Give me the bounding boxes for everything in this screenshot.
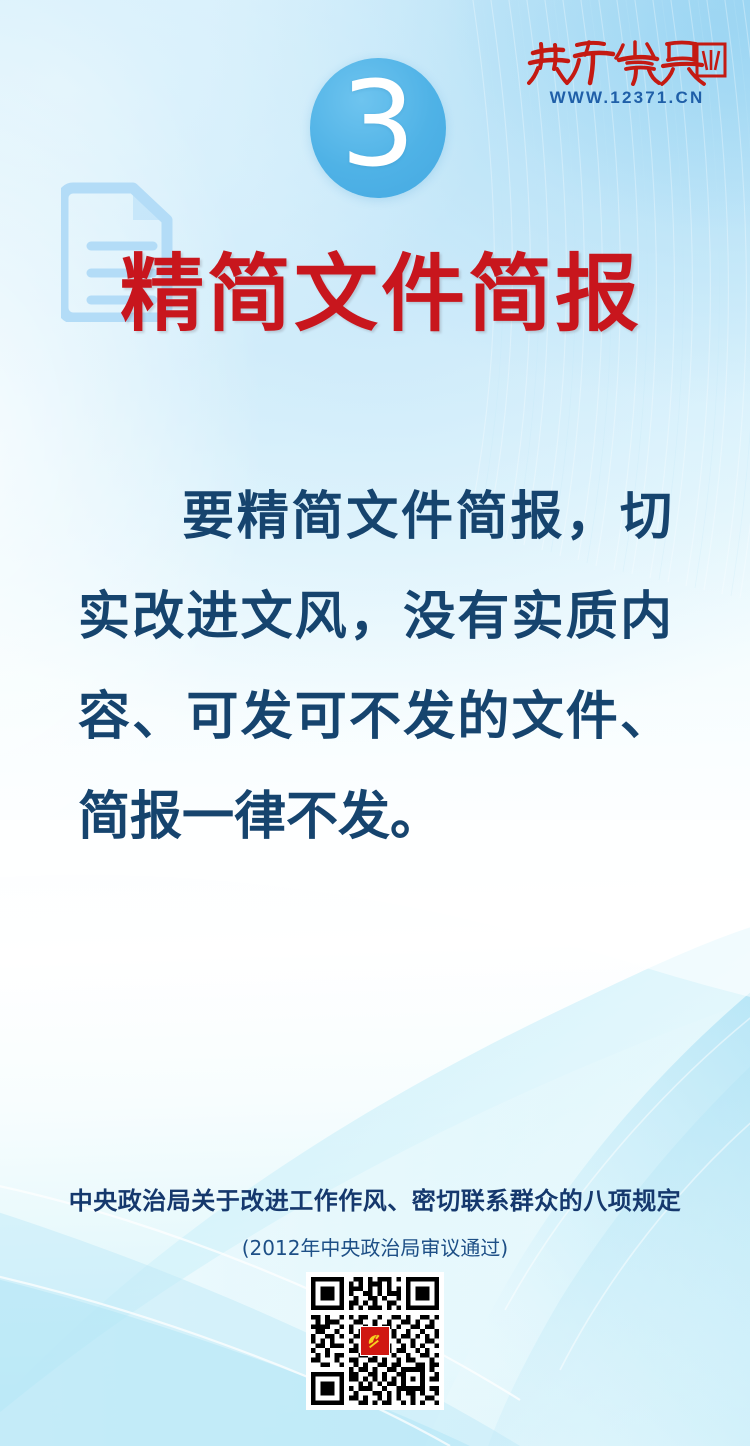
logo-url-text: WWW.12371.CN (527, 88, 727, 108)
footer-regulation-title: 中央政治局关于改进工作作风、密切联系群众的八项规定 (0, 1181, 750, 1216)
body-paragraph: 要精简文件简报，切实改进文风，没有实质内容、可发可不发的文件、简报一律不发。 (78, 467, 672, 867)
hammer-sickle-glyph (364, 1330, 386, 1352)
qr-code[interactable] (306, 1272, 444, 1410)
poster-root: WWW.12371.CN 3 精简文件简报 要精简文件简报，切实改进文风，没有实… (0, 0, 750, 1446)
page-title: 精简文件简报 (120, 252, 740, 336)
section-number: 3 (310, 58, 446, 198)
party-emblem-icon (360, 1326, 390, 1356)
section-number-badge: 3 (310, 58, 446, 198)
brand-wordmark-icon (527, 36, 727, 86)
site-logo[interactable]: WWW.12371.CN (527, 36, 727, 112)
footer-regulation-subtitle: (2012年中央政治局审议通过) (0, 1232, 750, 1261)
